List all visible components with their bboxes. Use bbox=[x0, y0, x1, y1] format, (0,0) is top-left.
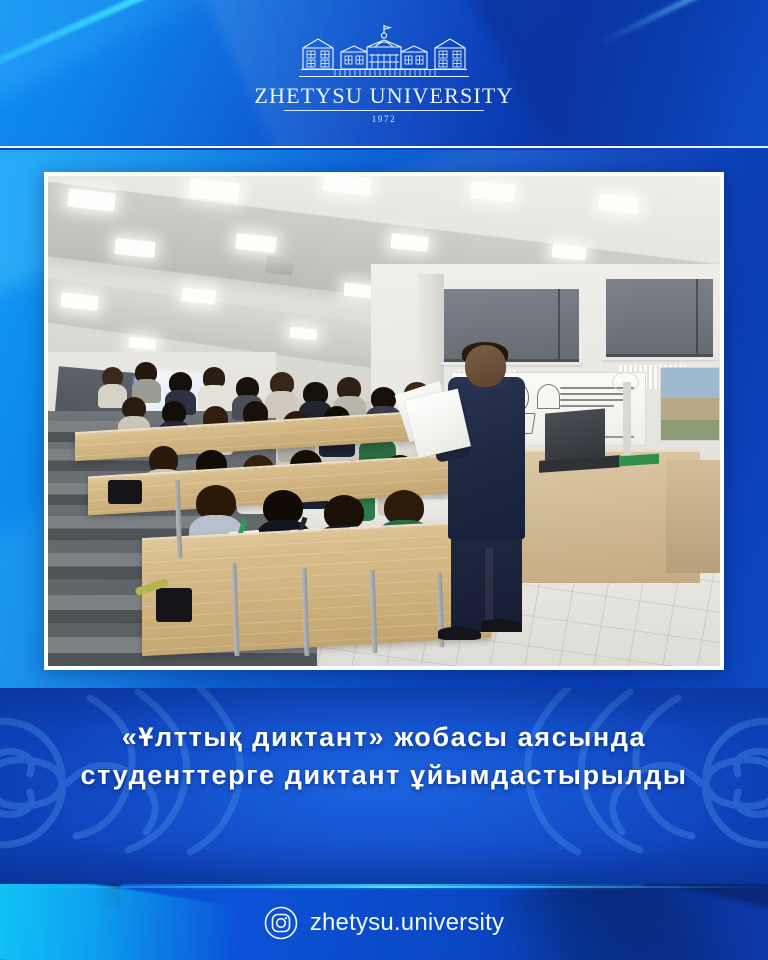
photo-frame bbox=[44, 172, 724, 670]
ceiling-light bbox=[61, 292, 99, 310]
microphone-stand bbox=[623, 382, 631, 456]
lecturer-shoe bbox=[481, 619, 521, 632]
student bbox=[270, 372, 294, 416]
student bbox=[135, 362, 157, 401]
instagram-handle[interactable]: zhetysu.university bbox=[310, 909, 504, 937]
backpack bbox=[108, 480, 142, 505]
ceiling-light bbox=[551, 243, 586, 260]
projector bbox=[266, 255, 294, 274]
poster-footer: zhetysu.university bbox=[0, 884, 768, 960]
window-sill bbox=[441, 362, 582, 365]
window-sill bbox=[602, 357, 716, 360]
founded-year: 1972 bbox=[372, 114, 396, 124]
footer-glow bbox=[124, 884, 644, 888]
laptop bbox=[545, 409, 605, 463]
lecturer-head bbox=[465, 345, 507, 387]
window-blind bbox=[606, 279, 714, 357]
instagram-icon[interactable] bbox=[264, 906, 298, 940]
social-media-poster: ZHETYSU UNIVERSITY 1972 bbox=[0, 0, 768, 960]
student bbox=[102, 367, 124, 406]
podium-side bbox=[666, 460, 720, 573]
university-building-icon bbox=[275, 24, 493, 82]
logo-underline bbox=[284, 110, 484, 111]
title-section: «Ұлттық диктант» жобасы аясында студентт… bbox=[0, 688, 768, 886]
photo-section bbox=[0, 150, 768, 688]
header-divider bbox=[0, 146, 768, 148]
monument-icon bbox=[537, 384, 560, 410]
post-title: «Ұлттық диктант» жобасы аясында студентт… bbox=[0, 718, 768, 795]
ceiling-light bbox=[182, 287, 217, 304]
student bbox=[203, 367, 226, 409]
microphone-icon bbox=[612, 372, 639, 392]
backpack bbox=[156, 588, 193, 622]
university-logo: ZHETYSU UNIVERSITY 1972 bbox=[0, 24, 768, 124]
lecturer-shoe bbox=[438, 627, 482, 640]
instagram-handle-row[interactable]: zhetysu.university bbox=[0, 906, 768, 940]
lecturer-leg-split bbox=[485, 548, 493, 626]
wall-landscape-photo bbox=[660, 367, 720, 441]
university-name: ZHETYSU UNIVERSITY bbox=[254, 85, 513, 107]
lecture-hall-photo bbox=[48, 176, 720, 666]
ceiling-light bbox=[128, 336, 156, 350]
poster-header: ZHETYSU UNIVERSITY 1972 bbox=[0, 0, 768, 148]
